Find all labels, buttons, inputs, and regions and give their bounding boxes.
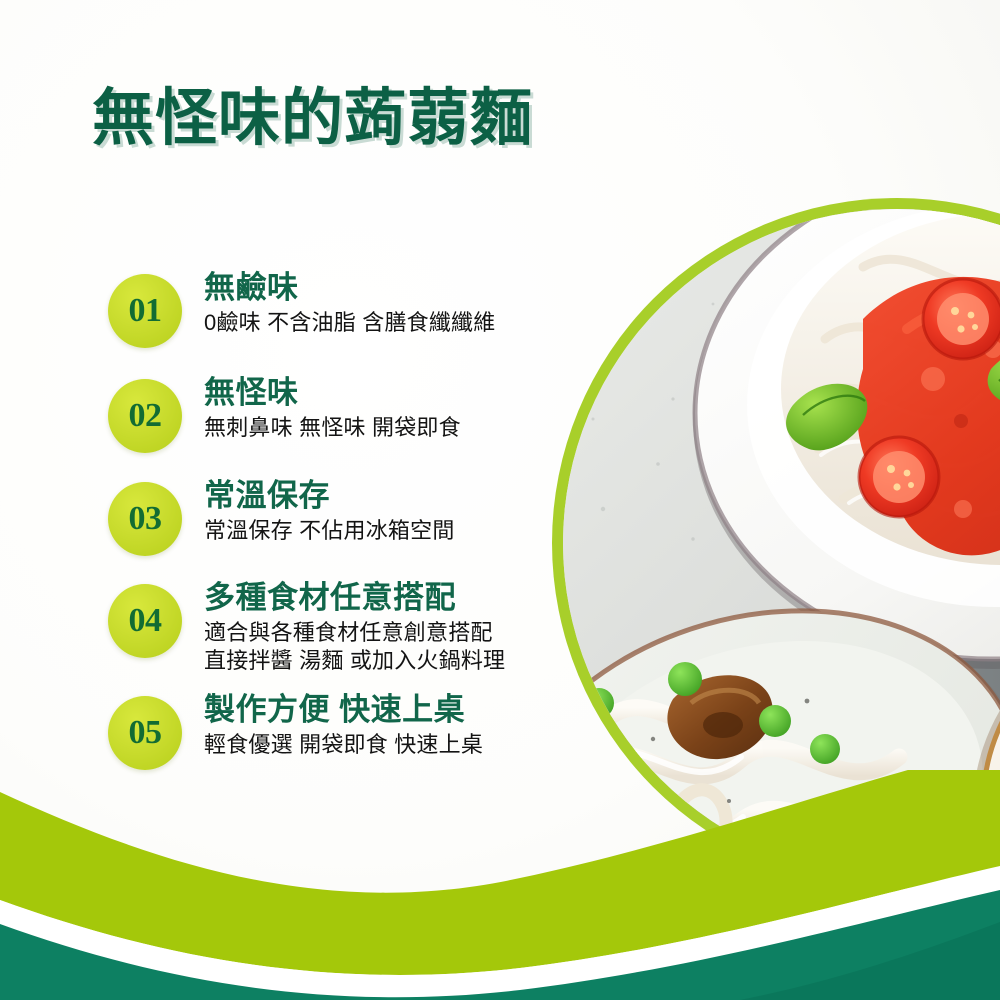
feature-description: 適合與各種食材任意創意搭配 直接拌醬 湯麵 或加入火鍋料理 xyxy=(204,619,505,675)
feature-description: 輕食優選 開袋即食 快速上桌 xyxy=(204,731,483,759)
feature-text-02: 無怪味 無刺鼻味 無怪味 開袋即食 xyxy=(204,375,461,442)
feature-number: 04 xyxy=(129,604,162,638)
feature-description: 0鹼味 不含油脂 含膳食纖纖維 xyxy=(204,309,495,337)
feature-badge-04: 04 xyxy=(108,584,182,658)
feature-number: 01 xyxy=(129,294,162,328)
feature-item-05: 05 製作方便 快速上桌 輕食優選 開袋即食 快速上桌 xyxy=(0,692,483,770)
feature-number: 02 xyxy=(129,399,162,433)
food-photo-illustration xyxy=(563,209,1000,877)
feature-text-03: 常溫保存 常溫保存 不佔用冰箱空間 xyxy=(204,478,455,545)
feature-badge-03: 03 xyxy=(108,482,182,556)
feature-badge-05: 05 xyxy=(108,696,182,770)
feature-text-04: 多種食材任意搭配 適合與各種食材任意創意搭配 直接拌醬 湯麵 或加入火鍋料理 xyxy=(204,580,505,674)
feature-title: 多種食材任意搭配 xyxy=(204,580,505,617)
feature-item-01: 01 無鹼味 0鹼味 不含油脂 含膳食纖纖維 xyxy=(0,270,495,348)
feature-item-02: 02 無怪味 無刺鼻味 無怪味 開袋即食 xyxy=(0,375,461,453)
feature-badge-02: 02 xyxy=(108,379,182,453)
feature-text-05: 製作方便 快速上桌 輕食優選 開袋即食 快速上桌 xyxy=(204,692,483,759)
wave-white-sliver xyxy=(0,866,1000,997)
photo-ring xyxy=(552,198,1000,888)
wave-teal-band xyxy=(0,890,1000,1000)
feature-title: 無鹼味 xyxy=(204,270,495,307)
feature-badge-01: 01 xyxy=(108,274,182,348)
feature-description: 無刺鼻味 無怪味 開袋即食 xyxy=(204,414,461,442)
wave-teal-shade xyxy=(740,922,1000,1000)
feature-number: 03 xyxy=(129,502,162,536)
feature-title: 製作方便 快速上桌 xyxy=(204,692,483,729)
page-title: 無怪味的蒟蒻麵 xyxy=(92,84,533,153)
feature-number: 05 xyxy=(129,716,162,750)
feature-item-04: 04 多種食材任意搭配 適合與各種食材任意創意搭配 直接拌醬 湯麵 或加入火鍋料… xyxy=(0,580,505,674)
feature-text-01: 無鹼味 0鹼味 不含油脂 含膳食纖纖維 xyxy=(204,270,495,337)
feature-title: 無怪味 xyxy=(204,375,461,412)
poster-canvas: 無怪味的蒟蒻麵 xyxy=(0,0,1000,1000)
konjac-noodles-dishes-photo xyxy=(563,209,1000,877)
feature-item-03: 03 常溫保存 常溫保存 不佔用冰箱空間 xyxy=(0,478,455,556)
feature-description: 常溫保存 不佔用冰箱空間 xyxy=(204,517,455,545)
feature-title: 常溫保存 xyxy=(204,478,455,515)
